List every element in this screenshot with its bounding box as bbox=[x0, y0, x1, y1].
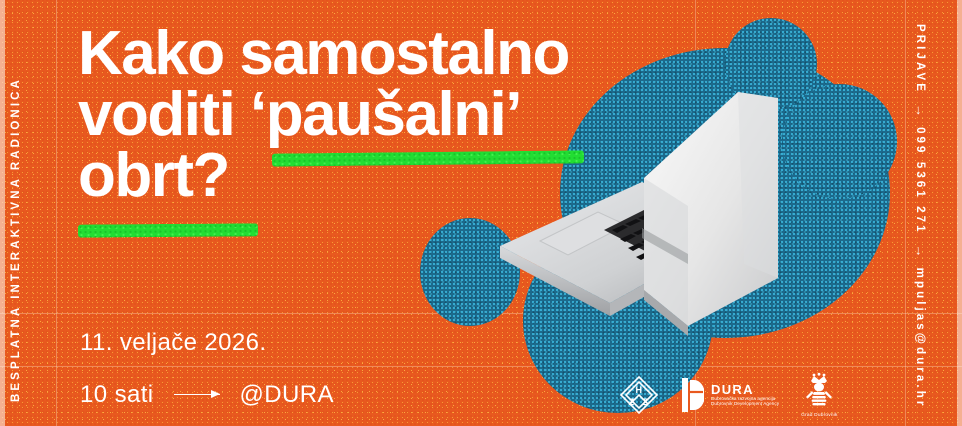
contact-phone[interactable]: 099 5361 271 bbox=[914, 127, 926, 235]
event-poster: Kako samostalno voditi ‘paušalni’ obrt? … bbox=[0, 0, 962, 426]
dura-logo: DURA Dubrovačka razvojna agencija Dubrov… bbox=[682, 378, 779, 412]
dura-subtitle-en: Dubrovnik Development Agency bbox=[711, 402, 779, 407]
dura-logo-text: DURA Dubrovačka razvojna agencija Dubrov… bbox=[711, 383, 779, 407]
dura-title: DURA bbox=[711, 383, 779, 397]
left-band-edge bbox=[0, 0, 5, 426]
headline-line-1: Kako samostalno bbox=[78, 24, 638, 85]
arrow-right-icon-2: → bbox=[913, 245, 928, 258]
event-time-location: 10 sati @DURA bbox=[80, 381, 334, 409]
haz-logo: H Z Z bbox=[618, 374, 660, 416]
event-location: @DURA bbox=[240, 381, 334, 409]
city-crest-label: Grad Dubrovnik bbox=[801, 413, 837, 418]
city-of-dubrovnik-logo: Grad Dubrovnik bbox=[801, 372, 837, 418]
left-band: BESPLATNA INTERAKTIVNA RADIONICA bbox=[0, 0, 56, 426]
arrow-right-icon-1: → bbox=[913, 104, 928, 117]
svg-text:H: H bbox=[636, 385, 643, 395]
event-time: 10 sati bbox=[80, 381, 154, 409]
right-band: PRIJAVE → 099 5361 271 → mpuljas@dura.hr bbox=[905, 0, 962, 426]
haz-diamond-icon: H Z Z bbox=[618, 374, 660, 416]
arrow-right-icon bbox=[174, 394, 220, 395]
signup-label: PRIJAVE bbox=[914, 24, 926, 94]
left-band-label: BESPLATNA INTERAKTIVNA RADIONICA bbox=[10, 77, 22, 402]
logo-strip: H Z Z DURA Dubrovačka razvojna agencija … bbox=[618, 366, 902, 424]
svg-text:Z: Z bbox=[643, 397, 649, 407]
contact-email[interactable]: mpuljas@dura.hr bbox=[914, 268, 926, 409]
right-band-contact: PRIJAVE → 099 5361 271 → mpuljas@dura.hr bbox=[913, 24, 928, 408]
grid-line-vertical-left bbox=[56, 0, 57, 426]
page-title: Kako samostalno voditi ‘paušalni’ obrt? bbox=[78, 24, 638, 206]
highlight-stroke-2 bbox=[78, 223, 258, 237]
headline-line-3: obrt? bbox=[78, 146, 638, 207]
city-crest-icon bbox=[801, 372, 837, 412]
svg-text:Z: Z bbox=[629, 397, 635, 407]
dura-mark-icon bbox=[682, 378, 704, 412]
headline-line-2: voditi ‘paušalni’ bbox=[78, 85, 638, 146]
right-band-edge bbox=[957, 0, 962, 426]
event-date: 11. veljače 2026. bbox=[80, 329, 266, 357]
